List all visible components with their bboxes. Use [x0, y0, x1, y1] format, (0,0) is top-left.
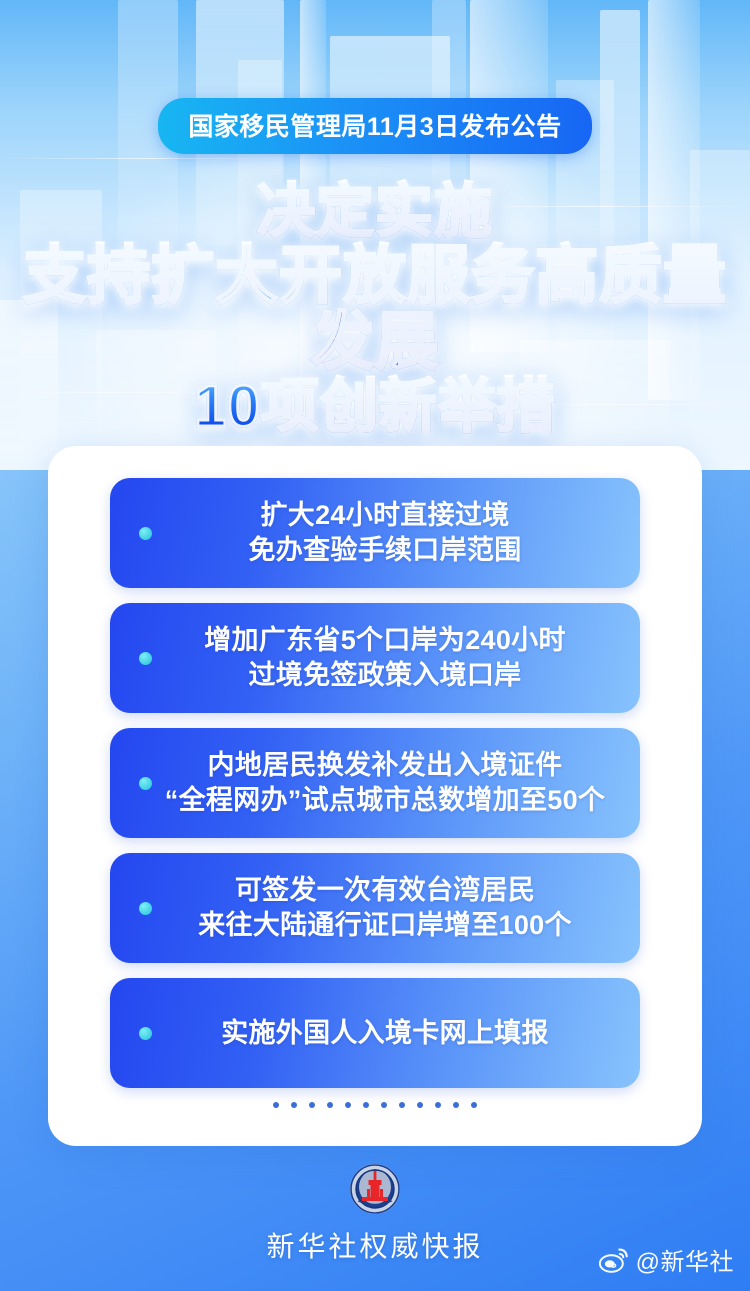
bullet-dot-icon — [139, 777, 152, 790]
xinhua-agency-emblem-icon — [349, 1163, 401, 1215]
measure-card[interactable]: 增加广东省5个口岸为240小时 过境免签政策入境口岸 — [110, 603, 640, 713]
weibo-watermark: @新华社 — [599, 1242, 734, 1277]
announcement-badge: 国家移民管理局11月3日发布公告 — [158, 98, 591, 154]
measure-line-1: 增加广东省5个口岸为240小时 — [204, 623, 566, 658]
measures-list: 扩大24小时直接过境 免办查验手续口岸范围 增加广东省5个口岸为240小时 过境… — [110, 478, 640, 1088]
measure-text: 增加广东省5个口岸为240小时 过境免签政策入境口岸 — [158, 623, 592, 692]
measure-line-1: 内地居民换发补发出入境证件 — [165, 748, 605, 783]
measure-text: 实施外国人入境卡网上填报 — [175, 1016, 575, 1051]
pagination-dot — [327, 1102, 333, 1108]
measure-line-2: “全程网办”试点城市总数增加至50个 — [165, 783, 605, 818]
headline-line-2: 支持扩大开放服务高质量发展 — [0, 244, 750, 375]
weibo-handle: @新华社 — [636, 1242, 734, 1277]
bullet-dot-icon — [139, 1027, 152, 1040]
bullet-dot-icon — [139, 527, 152, 540]
pagination-dot — [273, 1102, 279, 1108]
pagination-dot — [399, 1102, 405, 1108]
measure-text: 扩大24小时直接过境 免办查验手续口岸范围 — [203, 498, 548, 567]
measure-card[interactable]: 可签发一次有效台湾居民 来往大陆通行证口岸增至100个 — [110, 853, 640, 963]
measures-panel: 扩大24小时直接过境 免办查验手续口岸范围 增加广东省5个口岸为240小时 过境… — [48, 446, 702, 1146]
bullet-dot-icon — [139, 902, 152, 915]
pagination-dot — [291, 1102, 297, 1108]
measure-line-2: 来往大陆通行证口岸增至100个 — [198, 908, 572, 943]
measure-text: 内地居民换发补发出入境证件 “全程网办”试点城市总数增加至50个 — [119, 748, 631, 817]
announcement-badge-wrapper: 国家移民管理局11月3日发布公告 — [0, 98, 750, 154]
measure-card[interactable]: 内地居民换发补发出入境证件 “全程网办”试点城市总数增加至50个 — [110, 728, 640, 838]
measure-card[interactable]: 实施外国人入境卡网上填报 — [110, 978, 640, 1088]
pagination-dot — [345, 1102, 351, 1108]
bullet-dot-icon — [139, 652, 152, 665]
pagination-dot — [471, 1102, 477, 1108]
page-title: 决定实施 支持扩大开放服务高质量发展 10项创新举措 — [0, 182, 750, 438]
pagination-dot — [453, 1102, 459, 1108]
bg-line — [0, 158, 300, 159]
headline-line-3: 10项创新举措 — [0, 377, 750, 437]
pagination-dots[interactable] — [48, 1102, 702, 1108]
measure-line-1: 扩大24小时直接过境 — [249, 498, 522, 533]
pagination-dot — [309, 1102, 315, 1108]
measure-line-1: 实施外国人入境卡网上填报 — [221, 1016, 549, 1051]
pagination-dot — [381, 1102, 387, 1108]
pagination-dot — [435, 1102, 441, 1108]
measure-line-1: 可签发一次有效台湾居民 — [198, 873, 572, 908]
measure-card[interactable]: 扩大24小时直接过境 免办查验手续口岸范围 — [110, 478, 640, 588]
headline-line-1: 决定实施 — [0, 182, 750, 242]
measure-text: 可签发一次有效台湾居民 来往大陆通行证口岸增至100个 — [152, 873, 598, 942]
pagination-dot — [363, 1102, 369, 1108]
pagination-dot — [417, 1102, 423, 1108]
measure-line-2: 免办查验手续口岸范围 — [249, 533, 522, 568]
measure-line-2: 过境免签政策入境口岸 — [204, 658, 566, 693]
poster-root: 国家移民管理局11月3日发布公告 决定实施 支持扩大开放服务高质量发展 10项创… — [0, 0, 750, 1291]
weibo-icon — [599, 1247, 629, 1273]
